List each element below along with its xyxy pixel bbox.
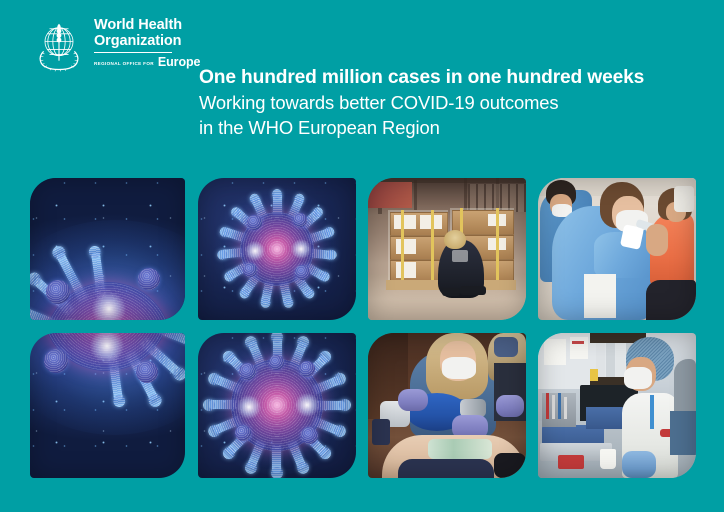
- gallery-tile-virus-closeup-blue-purple: [30, 178, 185, 320]
- tile-image-virus-closeup: [30, 178, 185, 320]
- image-gallery-grid: [30, 178, 696, 478]
- gallery-tile-laboratory-technician: [538, 333, 696, 478]
- tile-image-laboratory: [538, 333, 696, 478]
- who-logo-line2: Organization: [94, 34, 200, 50]
- tile-image-resuscitation: [368, 333, 526, 478]
- who-logo-region: REGIONAL OFFICE FOR Europe: [94, 55, 200, 69]
- page-title: One hundred million cases in one hundred…: [199, 66, 709, 90]
- who-logo-text: World Health Organization REGIONAL OFFIC…: [94, 17, 200, 69]
- page-subtitle-line1: Working towards better COVID-19 outcomes: [199, 90, 709, 115]
- gallery-tile-virus-particle-centered: [198, 178, 356, 320]
- tile-vignette: [538, 178, 696, 320]
- poster-header: World Health Organization REGIONAL OFFIC…: [0, 0, 724, 170]
- who-logo: World Health Organization REGIONAL OFFIC…: [31, 17, 200, 73]
- tile-vignette: [368, 333, 526, 478]
- who-emblem-icon: [31, 17, 87, 73]
- tile-vignette: [30, 178, 185, 320]
- tile-image-virus-large: [198, 333, 356, 478]
- tile-image-vaccination: [538, 178, 696, 320]
- tile-vignette: [368, 178, 526, 320]
- poster-canvas: World Health Organization REGIONAL OFFIC…: [0, 0, 724, 512]
- who-logo-divider: [94, 52, 172, 53]
- gallery-tile-warehouse-supply-pallets: [368, 178, 526, 320]
- tile-image-warehouse: [368, 178, 526, 320]
- gallery-tile-virus-particle-large: [198, 333, 356, 478]
- who-logo-line1: World Health: [94, 18, 200, 34]
- tile-image-virus-centered: [198, 178, 356, 320]
- region-name-label: Europe: [158, 55, 200, 69]
- gallery-tile-vaccination-clinic: [538, 178, 696, 320]
- tile-image-virus-inverted: [30, 333, 185, 478]
- tile-vignette: [198, 333, 356, 478]
- title-block: One hundred million cases in one hundred…: [199, 66, 709, 140]
- gallery-tile-resuscitation-training: [368, 333, 526, 478]
- tile-vignette: [30, 333, 185, 478]
- gallery-tile-virus-closeup-inverted: [30, 333, 185, 478]
- tile-vignette: [538, 333, 696, 478]
- page-subtitle-line2: in the WHO European Region: [199, 115, 709, 140]
- tile-vignette: [198, 178, 356, 320]
- regional-office-label: REGIONAL OFFICE FOR: [94, 61, 154, 66]
